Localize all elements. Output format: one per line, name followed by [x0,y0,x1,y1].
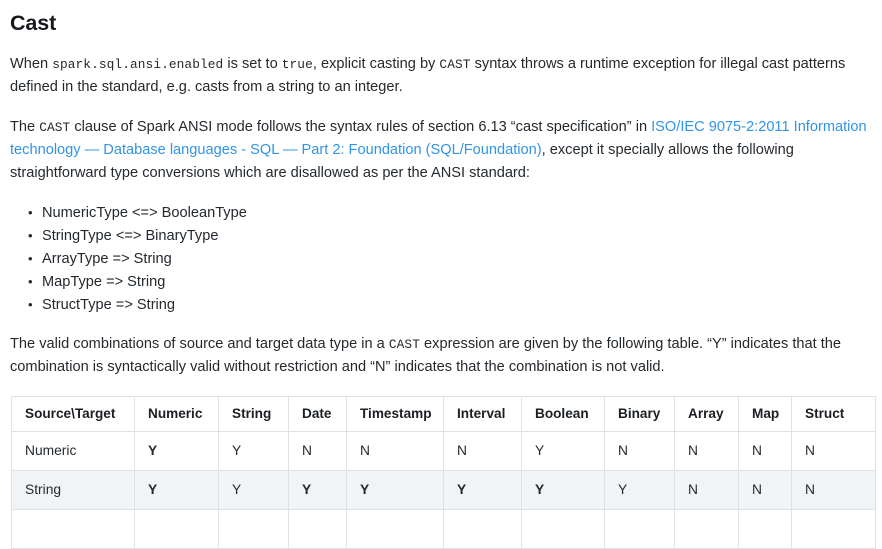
table-row: Numeric Y Y N N N Y N N N N [12,431,876,470]
list-item: StructType => String [42,294,872,317]
cell-numeric-interval: N [444,431,522,470]
table-body: Numeric Y Y N N N Y N N N N String Y Y Y… [12,431,876,548]
cell-string-date: Y [289,470,347,509]
table-row: String Y Y Y Y Y Y Y N N N [12,470,876,509]
p2-text-2: clause of Spark ANSI mode follows the sy… [70,119,651,135]
column-header-array: Array [675,396,739,431]
p3-text-1: The valid combinations of source and tar… [10,336,389,352]
column-header-numeric: Numeric [135,396,219,431]
list-item: NumericType <=> BooleanType [42,202,872,225]
cell-partial [347,509,444,548]
cell-partial [289,509,347,548]
doc-page: Cast When spark.sql.ansi.enabled is set … [0,0,882,549]
inline-code-cast-clause: CAST [39,120,70,135]
table-row [12,509,876,548]
cell-string-numeric: Y [135,470,219,509]
column-header-map: Map [739,396,792,431]
row-label-partial [12,509,135,548]
cell-partial [739,509,792,548]
column-header-source-target: Source\Target [12,396,135,431]
paragraph-valid-combinations: The valid combinations of source and tar… [10,333,872,379]
cell-string-struct: N [792,470,876,509]
cell-string-array: N [675,470,739,509]
column-header-boolean: Boolean [522,396,605,431]
p1-text-3: , explicit casting by [313,56,440,72]
paragraph-ansi-cast: When spark.sql.ansi.enabled is set to tr… [10,53,872,99]
cell-numeric-boolean: Y [522,431,605,470]
cell-partial [605,509,675,548]
cell-string-timestamp: Y [347,470,444,509]
cell-partial [675,509,739,548]
list-item: StringType <=> BinaryType [42,225,872,248]
table-header-row: Source\Target Numeric String Date Timest… [12,396,876,431]
cell-string-boolean: Y [522,470,605,509]
cell-numeric-struct: N [792,431,876,470]
cell-partial [135,509,219,548]
cell-string-string: Y [219,470,289,509]
cell-numeric-timestamp: N [347,431,444,470]
type-conversion-list: NumericType <=> BooleanType StringType <… [10,202,872,317]
list-item: MapType => String [42,271,872,294]
cell-partial [444,509,522,548]
column-header-date: Date [289,396,347,431]
column-header-timestamp: Timestamp [347,396,444,431]
row-label-numeric: Numeric [12,431,135,470]
row-label-string: String [12,470,135,509]
p2-text-1: The [10,119,39,135]
p1-text-1: When [10,56,52,72]
table-head: Source\Target Numeric String Date Timest… [12,396,876,431]
column-header-string: String [219,396,289,431]
inline-code-cast-expr: CAST [389,337,420,352]
cell-numeric-binary: N [605,431,675,470]
inline-code-config: spark.sql.ansi.enabled [52,57,223,72]
cell-partial [522,509,605,548]
column-header-binary: Binary [605,396,675,431]
cell-numeric-string: Y [219,431,289,470]
p1-text-2: is set to [223,56,281,72]
cell-string-binary: Y [605,470,675,509]
column-header-struct: Struct [792,396,876,431]
cell-numeric-date: N [289,431,347,470]
paragraph-syntax-rules: The CAST clause of Spark ANSI mode follo… [10,116,872,185]
inline-code-cast: CAST [439,57,470,72]
cell-numeric-numeric: Y [135,431,219,470]
cell-partial [792,509,876,548]
cell-partial [219,509,289,548]
inline-code-true: true [282,57,313,72]
list-item: ArrayType => String [42,248,872,271]
cell-string-map: N [739,470,792,509]
cell-numeric-map: N [739,431,792,470]
cast-combination-table: Source\Target Numeric String Date Timest… [11,396,876,549]
cell-numeric-array: N [675,431,739,470]
cell-string-interval: Y [444,470,522,509]
page-title: Cast [10,10,872,37]
column-header-interval: Interval [444,396,522,431]
